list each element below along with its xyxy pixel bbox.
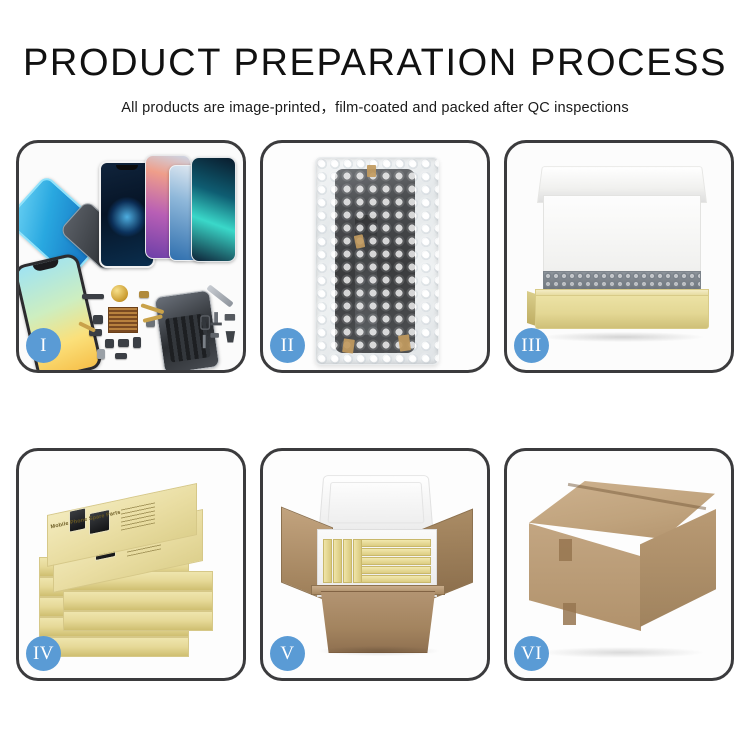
tape-strip <box>559 539 572 561</box>
carton-front-face <box>313 591 443 653</box>
component-chip <box>105 339 114 348</box>
product-preparation-infographic: PRODUCT PREPARATION PROCESS All products… <box>0 0 750 750</box>
panel-badge-5: V <box>270 636 305 671</box>
stacked-box <box>39 637 189 657</box>
tape-strip <box>342 338 355 353</box>
component-chip <box>115 353 127 359</box>
page-title: PRODUCT PREPARATION PROCESS <box>0 0 750 82</box>
yellow-box <box>343 539 352 583</box>
process-panel-3: III <box>504 140 734 373</box>
component-chip <box>118 339 129 347</box>
yellow-boxes-group <box>323 539 431 583</box>
drop-shadow <box>319 646 439 656</box>
page-subtitle: All products are image-printed，film-coat… <box>0 82 750 117</box>
stacked-box <box>63 591 213 611</box>
circuit-board <box>108 307 138 333</box>
component-chip <box>82 294 104 299</box>
process-panel-grid: I II <box>16 140 734 680</box>
panel-badge-6: VI <box>514 636 549 671</box>
teal-gradient-phone <box>191 157 236 262</box>
carton-left-face <box>529 521 641 631</box>
process-panel-4: Mobile Phone Spare Parts Mobile Phone Sp… <box>16 448 246 681</box>
panel-badge-1: I <box>26 328 61 363</box>
component-chip <box>133 337 141 348</box>
repair-tools-icon <box>199 310 237 356</box>
process-panel-1: I <box>16 140 246 373</box>
component-chip <box>93 315 103 324</box>
panel-badge-2: II <box>270 328 305 363</box>
process-panel-2: II <box>260 140 490 373</box>
process-panel-5: V <box>260 448 490 681</box>
foam-pad <box>543 195 701 273</box>
component-chip <box>97 349 105 359</box>
yellow-box <box>323 539 332 583</box>
yellow-box <box>361 575 431 583</box>
header: PRODUCT PREPARATION PROCESS All products… <box>0 0 750 117</box>
tape-strip <box>563 603 576 625</box>
foam-box-lid <box>319 475 434 531</box>
tape-strip <box>367 165 376 177</box>
panel-badge-3: III <box>514 328 549 363</box>
panel-badge-4: IV <box>26 636 61 671</box>
tape-strip <box>398 334 411 351</box>
speaker-component <box>111 285 128 302</box>
yellow-box <box>361 539 431 547</box>
process-panel-6: VI <box>504 448 734 681</box>
box-front-face <box>535 295 709 329</box>
drop-shadow <box>543 332 703 342</box>
component-chip <box>139 291 149 298</box>
drop-shadow <box>541 647 703 658</box>
screen-assembly <box>335 169 415 353</box>
stacked-box <box>63 611 213 631</box>
yellow-box <box>333 539 342 583</box>
yellow-box <box>361 566 431 574</box>
yellow-box <box>361 548 431 556</box>
yellow-box <box>361 557 431 565</box>
